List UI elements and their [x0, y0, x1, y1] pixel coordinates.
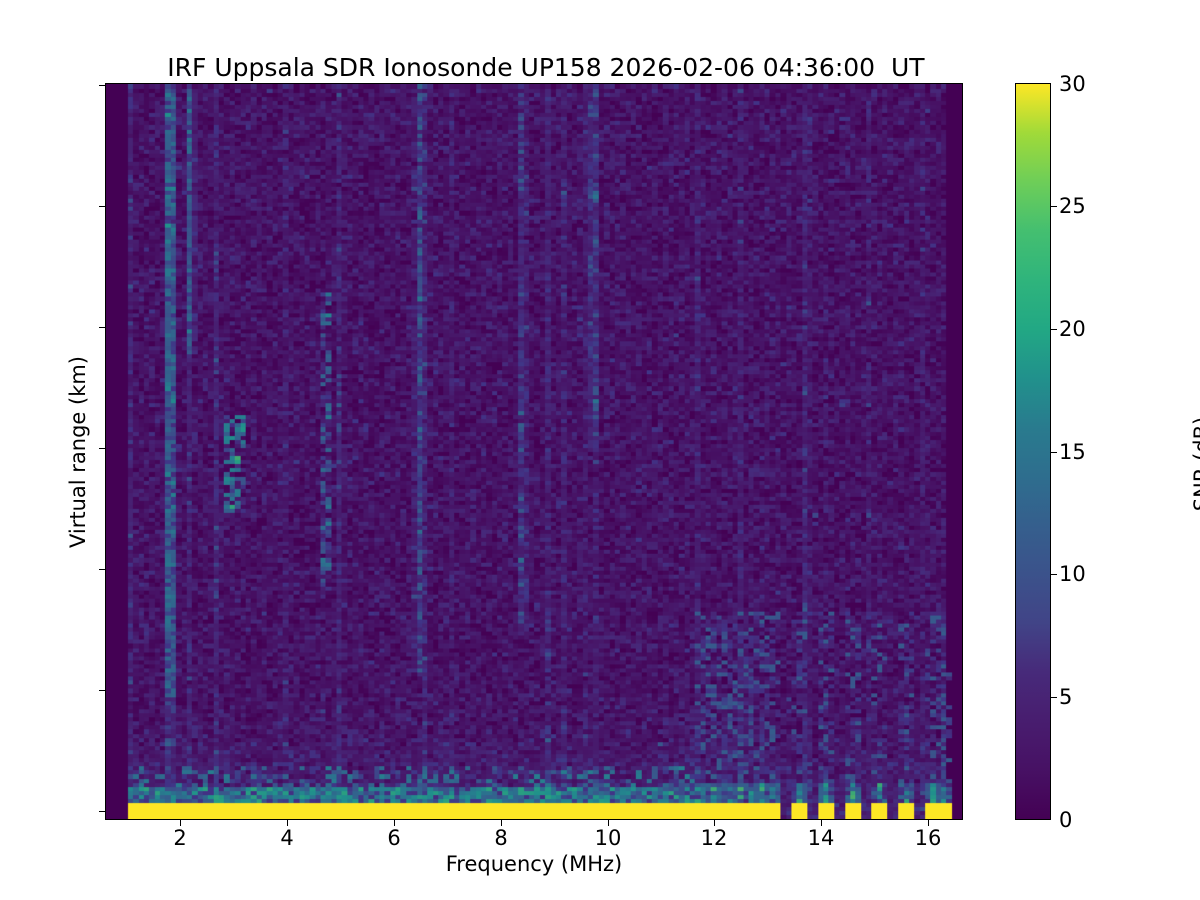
y-axis-label: Virtual range (km): [66, 82, 90, 822]
cbar-tick-label-15: 15: [1059, 440, 1129, 464]
y-tick-mark-300: [99, 448, 105, 449]
cbar-tick-label-10: 10: [1059, 562, 1129, 586]
y-tick-mark-0: [99, 811, 105, 812]
x-tick-label-6: 6: [364, 826, 424, 850]
cbar-tick-mark-5: [1051, 697, 1057, 698]
cbar-tick-label-20: 20: [1059, 317, 1129, 341]
x-tick-mark-14: [821, 820, 822, 826]
y-tick-mark-600: [99, 85, 105, 86]
x-tick-mark-10: [608, 820, 609, 826]
ionogram-heatmap: [106, 84, 962, 819]
x-tick-label-4: 4: [257, 826, 317, 850]
ionogram-plot-area[interactable]: [105, 83, 963, 820]
x-tick-mark-2: [180, 820, 181, 826]
cbar-tick-label-30: 30: [1059, 72, 1129, 96]
y-tick-mark-100: [99, 690, 105, 691]
x-tick-mark-4: [287, 820, 288, 826]
x-tick-mark-16: [928, 820, 929, 826]
x-tick-label-2: 2: [150, 826, 210, 850]
x-tick-label-8: 8: [471, 826, 531, 850]
colorbar-label: SNR (dB): [1190, 94, 1200, 834]
x-axis-label: Frequency (MHz): [105, 852, 963, 876]
y-tick-mark-400: [99, 327, 105, 328]
cbar-tick-mark-20: [1051, 329, 1057, 330]
cbar-tick-label-0: 0: [1059, 808, 1129, 832]
x-tick-mark-12: [714, 820, 715, 826]
x-tick-label-12: 12: [684, 826, 744, 850]
cbar-tick-label-5: 5: [1059, 685, 1129, 709]
cbar-tick-mark-10: [1051, 574, 1057, 575]
ionogram-figure: IRF Uppsala SDR Ionosonde UP158 2026-02-…: [0, 0, 1200, 900]
x-tick-mark-6: [394, 820, 395, 826]
x-tick-label-16: 16: [898, 826, 958, 850]
y-tick-mark-200: [99, 569, 105, 570]
cbar-tick-mark-15: [1051, 452, 1057, 453]
x-tick-label-10: 10: [578, 826, 638, 850]
title-line-1: IRF Uppsala SDR Ionosonde UP158 2026-02-…: [167, 53, 924, 82]
x-tick-mark-8: [501, 820, 502, 826]
y-tick-mark-500: [99, 206, 105, 207]
snr-colorbar: [1015, 83, 1051, 820]
cbar-tick-label-25: 25: [1059, 194, 1129, 218]
x-tick-label-14: 14: [791, 826, 851, 850]
cbar-tick-mark-25: [1051, 206, 1057, 207]
